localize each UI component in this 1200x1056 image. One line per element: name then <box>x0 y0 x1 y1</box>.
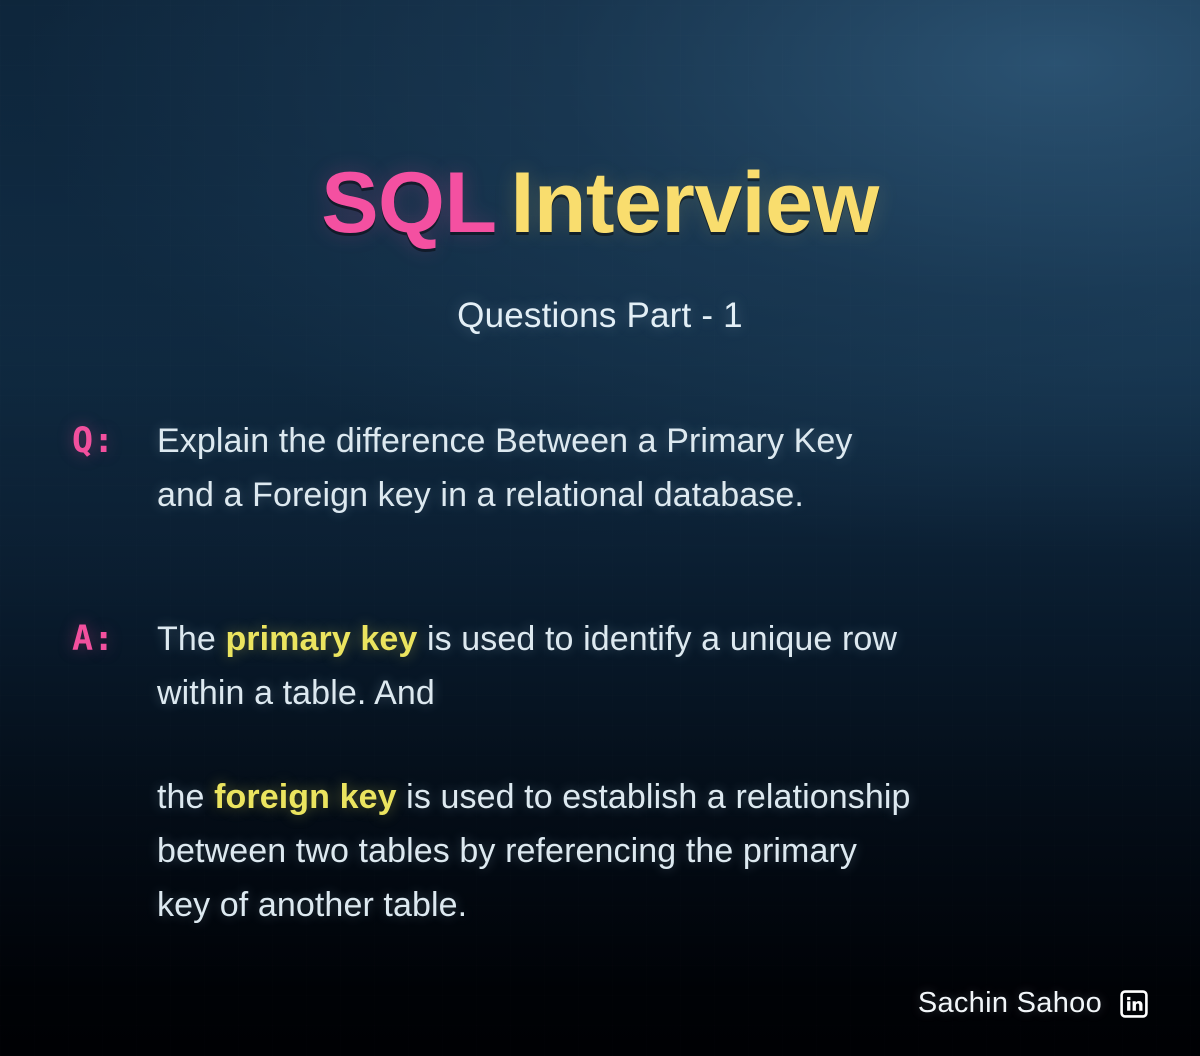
answer-p2-line-1: the foreign key is used to establish a r… <box>157 770 1140 824</box>
sql-interview-slide: SQLInterview Questions Part - 1 Q: Expla… <box>0 0 1200 1056</box>
answer-p1-line-1-pre: The <box>157 620 225 658</box>
title-word-sql: SQL <box>321 155 496 251</box>
linkedin-icon[interactable] <box>1120 990 1148 1018</box>
question-block: Q: Explain the difference Between a Prim… <box>0 414 1200 522</box>
answer-p2-line-2: between two tables by referencing the pr… <box>157 824 1140 878</box>
question-text: Explain the difference Between a Primary… <box>157 414 1200 522</box>
answer-p1-line-1: The primary key is used to identify a un… <box>157 612 1140 666</box>
answer-p2-line-1-post: is used to establish a relationship <box>397 778 911 816</box>
page-title: SQLInterview <box>0 160 1200 246</box>
answer-p1-line-2: within a table. And <box>157 666 1140 720</box>
question-line-1: Explain the difference Between a Primary… <box>157 414 1140 468</box>
answer-text: The primary key is used to identify a un… <box>157 612 1200 932</box>
answer-paragraph-1: The primary key is used to identify a un… <box>157 612 1140 720</box>
title-block: SQLInterview <box>0 160 1200 246</box>
page-subtitle: Questions Part - 1 <box>0 296 1200 336</box>
answer-p2-line-3: key of another table. <box>157 878 1140 932</box>
answer-p1-line-1-post: is used to identify a unique row <box>417 620 897 658</box>
question-row: Q: Explain the difference Between a Prim… <box>0 414 1200 522</box>
answer-p1-highlight-primary-key: primary key <box>225 620 417 658</box>
footer: Sachin Sahoo <box>918 987 1148 1020</box>
answer-label: A: <box>0 612 157 666</box>
title-word-interview: Interview <box>510 155 878 251</box>
answer-row: A: The primary key is used to identify a… <box>0 612 1200 932</box>
answer-p2-highlight-foreign-key: foreign key <box>214 778 397 816</box>
answer-paragraph-2: the foreign key is used to establish a r… <box>157 770 1140 932</box>
author-name: Sachin Sahoo <box>918 987 1102 1020</box>
question-label: Q: <box>0 414 157 468</box>
answer-p2-line-1-pre: the <box>157 778 214 816</box>
question-line-2: and a Foreign key in a relational databa… <box>157 468 1140 522</box>
answer-block: A: The primary key is used to identify a… <box>0 612 1200 932</box>
